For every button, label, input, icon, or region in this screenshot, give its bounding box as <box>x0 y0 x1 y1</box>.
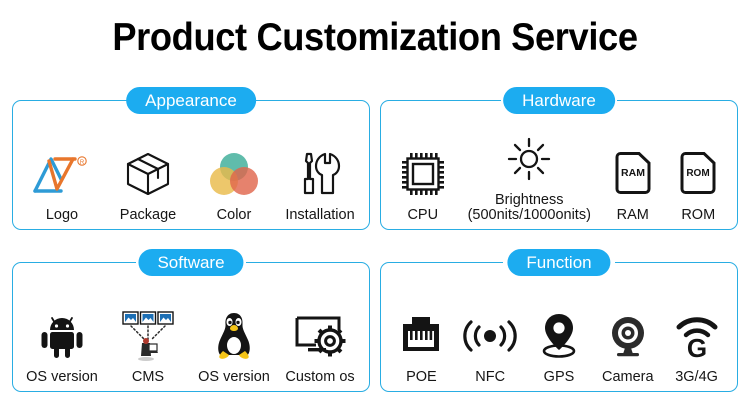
item-label: Brightness (500nits/1000onits) <box>468 193 591 223</box>
item-rom[interactable]: ROM ROM <box>669 113 727 223</box>
item-label: CMS <box>132 370 164 385</box>
camera-lens-icon <box>605 305 651 367</box>
nfc-waves-icon <box>462 305 518 367</box>
item-nfc[interactable]: NFC <box>456 275 524 385</box>
package-box-icon <box>124 143 172 205</box>
panel-items: CPU <box>381 113 737 223</box>
item-package[interactable]: Package <box>106 113 190 223</box>
item-cpu[interactable]: CPU <box>391 113 455 223</box>
item-label: Package <box>120 208 176 223</box>
item-poe[interactable]: POE <box>387 275 455 385</box>
panel-items: POE NFC <box>381 275 737 385</box>
item-cms[interactable]: CMS <box>105 275 191 385</box>
signal-g-icon: G <box>674 305 720 367</box>
item-label: Installation <box>285 208 354 223</box>
item-label: OS version <box>26 370 98 385</box>
page-title: Product Customization Service <box>26 0 724 57</box>
item-label: Custom os <box>285 370 354 385</box>
item-3g4g[interactable]: G 3G/4G <box>663 275 731 385</box>
panel-function: Function <box>380 262 738 392</box>
product-customization-page: Product Customization Service Appearance… <box>0 0 750 406</box>
item-logo[interactable]: R Logo <box>20 113 104 223</box>
item-label: POE <box>406 370 437 385</box>
item-camera[interactable]: Camera <box>594 275 662 385</box>
panels-grid: Appearance R Logo <box>12 100 738 392</box>
panel-badge-hardware: Hardware <box>503 87 615 114</box>
panel-badge-software: Software <box>138 249 243 276</box>
rom-card-icon: ROM <box>678 143 718 205</box>
android-robot-icon <box>39 305 85 367</box>
item-ram[interactable]: RAM RAM <box>604 113 662 223</box>
item-label-sub: (500nits/1000onits) <box>468 208 591 223</box>
brightness-sun-icon <box>506 128 552 190</box>
item-label-main: Brightness <box>495 192 564 208</box>
item-label: 3G/4G <box>675 370 718 385</box>
item-label: RAM <box>617 208 649 223</box>
item-label: Logo <box>46 208 78 223</box>
panel-software: Software <box>12 262 370 392</box>
linux-penguin-icon <box>211 305 257 367</box>
svg-text:R: R <box>80 160 85 166</box>
panel-appearance: Appearance R Logo <box>12 100 370 230</box>
item-android-os-version[interactable]: OS version <box>19 275 105 385</box>
gps-pin-icon <box>536 305 582 367</box>
item-label: ROM <box>681 208 715 223</box>
item-color[interactable]: Color <box>192 113 276 223</box>
item-linux-os-version[interactable]: OS version <box>191 275 277 385</box>
monitor-gear-icon <box>294 305 346 367</box>
item-label: Color <box>217 208 252 223</box>
cpu-chip-icon <box>401 143 445 205</box>
panel-items: R Logo <box>13 113 369 223</box>
item-label: Camera <box>602 370 654 385</box>
item-custom-os[interactable]: Custom os <box>277 275 363 385</box>
panel-badge-appearance: Appearance <box>126 87 256 114</box>
poe-ethernet-icon <box>397 305 445 367</box>
screwdriver-wrench-icon <box>296 143 344 205</box>
panel-hardware: Hardware <box>380 100 738 230</box>
item-installation[interactable]: Installation <box>278 113 362 223</box>
item-label: NFC <box>475 370 505 385</box>
item-gps[interactable]: GPS <box>525 275 593 385</box>
ram-card-icon: RAM <box>613 143 653 205</box>
signal-g-text: G <box>686 333 706 359</box>
ram-card-text: RAM <box>621 167 645 179</box>
panel-items: OS version <box>13 275 369 385</box>
item-label: CPU <box>407 208 438 223</box>
panel-badge-function: Function <box>507 249 610 276</box>
rom-card-text: ROM <box>687 168 710 179</box>
brand-logo-icon: R <box>31 143 93 205</box>
item-label: GPS <box>544 370 575 385</box>
item-brightness[interactable]: Brightness (500nits/1000onits) <box>462 113 596 223</box>
item-label: OS version <box>198 370 270 385</box>
color-circles-icon <box>208 143 260 205</box>
cms-screens-icon <box>121 305 175 367</box>
